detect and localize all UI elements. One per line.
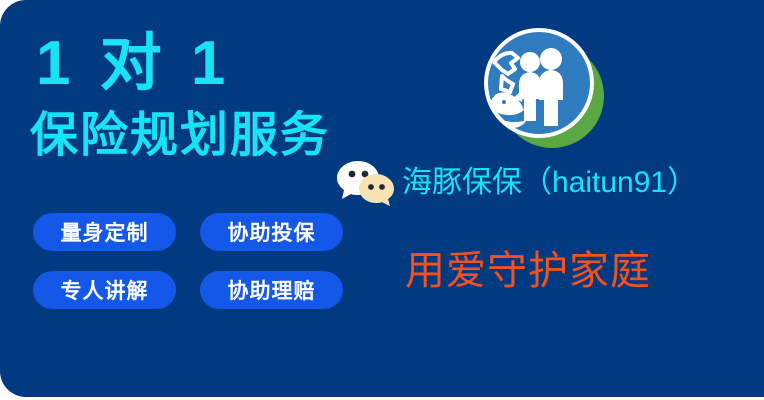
badge-assist-apply[interactable]: 协助投保 — [200, 213, 343, 251]
globe-family-dolphin-logo-icon — [488, 32, 590, 134]
badge-custom-tailored[interactable]: 量身定制 — [33, 213, 176, 251]
feature-badge-grid: 量身定制 协助投保 专人讲解 协助理赔 — [33, 213, 343, 309]
promotional-poster: 1 对 1 保险规划服务 量身定制 协助投保 专人讲解 协助理赔 — [0, 0, 764, 400]
brand-logo — [478, 22, 608, 152]
wechat-account-label: 海豚保保（haitun91） — [402, 168, 697, 198]
badge-expert-explain[interactable]: 专人讲解 — [33, 271, 176, 309]
page-title: 1 对 1 — [36, 33, 231, 95]
brand-tagline: 用爱守护家庭 — [405, 251, 651, 291]
page-subtitle: 保险规划服务 — [30, 112, 330, 160]
wechat-icon — [336, 158, 398, 208]
wechat-contact-row[interactable]: 海豚保保（haitun91） — [336, 158, 697, 208]
badge-assist-claim[interactable]: 协助理赔 — [200, 271, 343, 309]
